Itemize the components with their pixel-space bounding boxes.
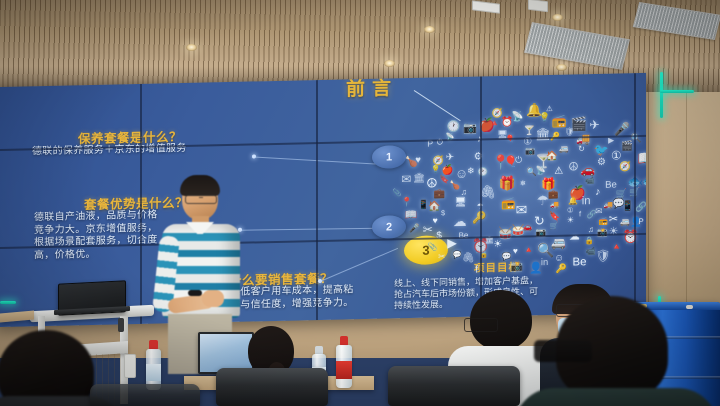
cloud-icon: ✈ bbox=[446, 153, 454, 163]
cloud-icon: 💡 bbox=[539, 113, 550, 122]
cloud-icon: 🏛 bbox=[413, 174, 425, 184]
cloud-icon: ♪ bbox=[595, 187, 600, 198]
cloud-icon: ✂ bbox=[438, 252, 445, 261]
downlight-icon bbox=[556, 64, 567, 71]
cloud-icon: ⚠ bbox=[554, 166, 563, 176]
cloud-icon: 🚐 bbox=[551, 237, 566, 249]
water-bottle bbox=[336, 336, 352, 388]
cloud-icon: ✈ bbox=[589, 119, 599, 132]
cloud-icon: 🛒 bbox=[616, 189, 627, 198]
cloud-icon: Be bbox=[573, 257, 587, 269]
cloud-icon: ♫ bbox=[461, 188, 467, 197]
cloud-icon: 🛡 bbox=[595, 250, 610, 263]
cloud-icon: 🕐 bbox=[447, 122, 461, 133]
cloud-icon: 🖇 bbox=[462, 253, 475, 263]
cloud-icon: ① bbox=[567, 207, 573, 214]
cloud-icon: 📻 bbox=[599, 218, 608, 226]
cloud-icon: f bbox=[579, 210, 581, 218]
cloud-icon: 🍎 bbox=[442, 166, 454, 176]
screenshot-root: 前言 保养套餐是什么？ 德联的保养服务＋京东的增值服务 1 套餐优势是什么？ 德… bbox=[0, 0, 720, 406]
presenter-hand bbox=[202, 290, 224, 307]
cloud-icon: 🎬 bbox=[621, 142, 633, 152]
cloud-icon: 📡 bbox=[512, 113, 524, 123]
office-chair bbox=[216, 368, 328, 406]
cloud-icon: ↻ bbox=[534, 215, 545, 228]
water-bottle bbox=[146, 340, 161, 390]
cloud-icon: 🎁 bbox=[499, 176, 516, 190]
cloud-icon: 📱 bbox=[622, 202, 634, 212]
cloud-icon: 💬 bbox=[453, 251, 462, 258]
cloud-icon: ☮ bbox=[426, 177, 438, 190]
cloud-icon: 📖 bbox=[638, 151, 647, 165]
panel-seam bbox=[480, 76, 482, 316]
cloud-icon: 💬 bbox=[502, 252, 512, 260]
cloud-icon: 📻 bbox=[552, 115, 567, 127]
cloud-icon: 💡 bbox=[431, 166, 440, 174]
cloud-icon: 🖥 bbox=[455, 198, 467, 208]
cloud-icon: ♥ bbox=[415, 156, 421, 166]
cloud-icon: 📡 bbox=[536, 167, 546, 175]
presenter-hair bbox=[180, 175, 220, 196]
cloud-icon: f bbox=[475, 265, 478, 275]
panel-seam bbox=[140, 84, 142, 324]
icon-cloud: ☀🔑⏰🧭📻①🔍📡✂🍎💬🚐🛒🏛Be🔺📷🚚✉♥✈🐦☁f📱♪in🏠💡🔒📖📸👤📍🕐⚙$🍸… bbox=[392, 89, 646, 285]
block-body-2: 德联自产油液，品质与价格竞争力大。京东增值服务，根据场景配套服务，切合度高，价格… bbox=[34, 209, 162, 262]
downlight-icon bbox=[186, 44, 197, 51]
cloud-icon: 🔔 bbox=[568, 197, 578, 205]
cloud-icon: 📎 bbox=[393, 190, 402, 197]
cloud-icon: 🔺 bbox=[611, 242, 622, 251]
cloud-icon: 🔖 bbox=[440, 176, 450, 184]
cloud-icon: Be bbox=[605, 180, 617, 190]
connector-line bbox=[320, 248, 398, 282]
cloud-icon: 🏠 bbox=[428, 203, 440, 213]
audience-head bbox=[0, 330, 94, 406]
cloud-icon: 🍸 bbox=[524, 127, 535, 136]
cloud-icon: 📹 bbox=[585, 177, 594, 185]
cloud-icon: ♥ bbox=[513, 247, 518, 256]
led-strip-icon bbox=[660, 72, 663, 118]
downlight-icon bbox=[552, 14, 563, 21]
cloud-icon: 🛒 bbox=[550, 223, 559, 230]
glasses-icon bbox=[534, 340, 592, 362]
block-body-3: 降低客户用车成本，提高粘度与信任度，增强竞争力。 bbox=[230, 284, 358, 312]
cloud-icon: 📍 bbox=[492, 155, 509, 169]
cloud-icon: 🔗 bbox=[635, 203, 646, 213]
lectern-control-box bbox=[124, 354, 136, 378]
cloud-icon: 💼 bbox=[548, 190, 558, 199]
led-strip-icon bbox=[0, 301, 16, 304]
cloud-icon: $ bbox=[441, 210, 445, 217]
cloud-icon: P bbox=[638, 218, 643, 226]
cloud-icon: 🍗 bbox=[450, 181, 461, 190]
cloud-icon: 🚚 bbox=[550, 201, 559, 208]
cloud-icon: 🚚 bbox=[604, 202, 613, 210]
cloud-icon: 👤 bbox=[529, 263, 543, 274]
cloud-icon: 🏠 bbox=[546, 150, 558, 160]
cloud-icon: 📎 bbox=[428, 244, 438, 252]
cloud-icon: 🔖 bbox=[549, 212, 560, 221]
cloud-icon: ✂ bbox=[423, 223, 433, 235]
cloud-icon: ↻ bbox=[578, 146, 585, 154]
cloud-icon: ☺ bbox=[554, 253, 564, 263]
downlight-icon bbox=[424, 26, 435, 33]
led-strip-icon bbox=[660, 90, 694, 93]
cloud-icon: ♥ bbox=[433, 216, 438, 225]
audience-torso bbox=[514, 388, 718, 406]
cloud-icon: ⚙ bbox=[597, 158, 606, 168]
cloud-icon: 🔺 bbox=[524, 245, 534, 254]
cable-bundle bbox=[118, 318, 124, 332]
panel-seam bbox=[316, 80, 318, 320]
cloud-icon: ☮ bbox=[568, 161, 578, 173]
cloud-icon: 🖇 bbox=[480, 186, 496, 199]
connector-line bbox=[240, 228, 378, 231]
cloud-icon: 📖 bbox=[405, 211, 418, 221]
cloud-icon: 🐦 bbox=[594, 144, 609, 156]
cloud-icon: 🧭 bbox=[619, 162, 631, 172]
cloud-icon: ✉ bbox=[401, 174, 411, 186]
cloud-icon: 🚗 bbox=[581, 165, 596, 177]
glasses-icon bbox=[464, 318, 498, 332]
glasses-bridge bbox=[199, 197, 203, 198]
cloud-icon: ☀ bbox=[493, 240, 502, 250]
cloud-icon: ☁ bbox=[453, 215, 467, 229]
cloud-icon: 📍 bbox=[401, 198, 412, 207]
cloud-icon: 🥁 bbox=[512, 225, 525, 236]
bottle-label bbox=[146, 364, 161, 381]
cloud-icon: in bbox=[582, 196, 591, 207]
cloud-icon: ☁ bbox=[569, 232, 580, 243]
cloud-icon: 🚐 bbox=[620, 218, 630, 226]
cloud-icon: 📷 bbox=[463, 124, 477, 136]
cloud-icon: ✉ bbox=[516, 204, 528, 218]
cloud-icon: ❄ bbox=[520, 179, 526, 186]
cloud-icon: 📷 bbox=[525, 147, 535, 155]
antenna-line bbox=[414, 90, 461, 121]
cloud-icon: ✉ bbox=[595, 207, 602, 216]
cloud-icon: 📸 bbox=[511, 263, 523, 273]
cloud-icon: ☺ bbox=[455, 167, 468, 180]
office-chair bbox=[90, 384, 200, 406]
cloud-icon: ♫ bbox=[588, 226, 594, 234]
audience-man-foreground-right bbox=[528, 296, 704, 406]
cloud-icon: ☀ bbox=[567, 216, 574, 224]
panel-seam bbox=[634, 73, 636, 313]
cloud-icon: 🔑 bbox=[556, 264, 567, 273]
cloud-icon: ⏰ bbox=[501, 118, 513, 128]
cloud-icon: 🔒 bbox=[585, 237, 594, 245]
cloud-icon: 🧭 bbox=[433, 156, 444, 165]
office-chair bbox=[388, 366, 520, 406]
cloud-icon: 🎤 bbox=[409, 224, 419, 233]
presenter-clicker bbox=[188, 290, 202, 296]
cloud-icon: ① bbox=[611, 150, 622, 162]
downlight-icon bbox=[384, 60, 395, 67]
cloud-icon: 📻 bbox=[501, 197, 515, 209]
bottle-label bbox=[336, 361, 352, 379]
cloud-icon: 🚐 bbox=[559, 146, 569, 154]
